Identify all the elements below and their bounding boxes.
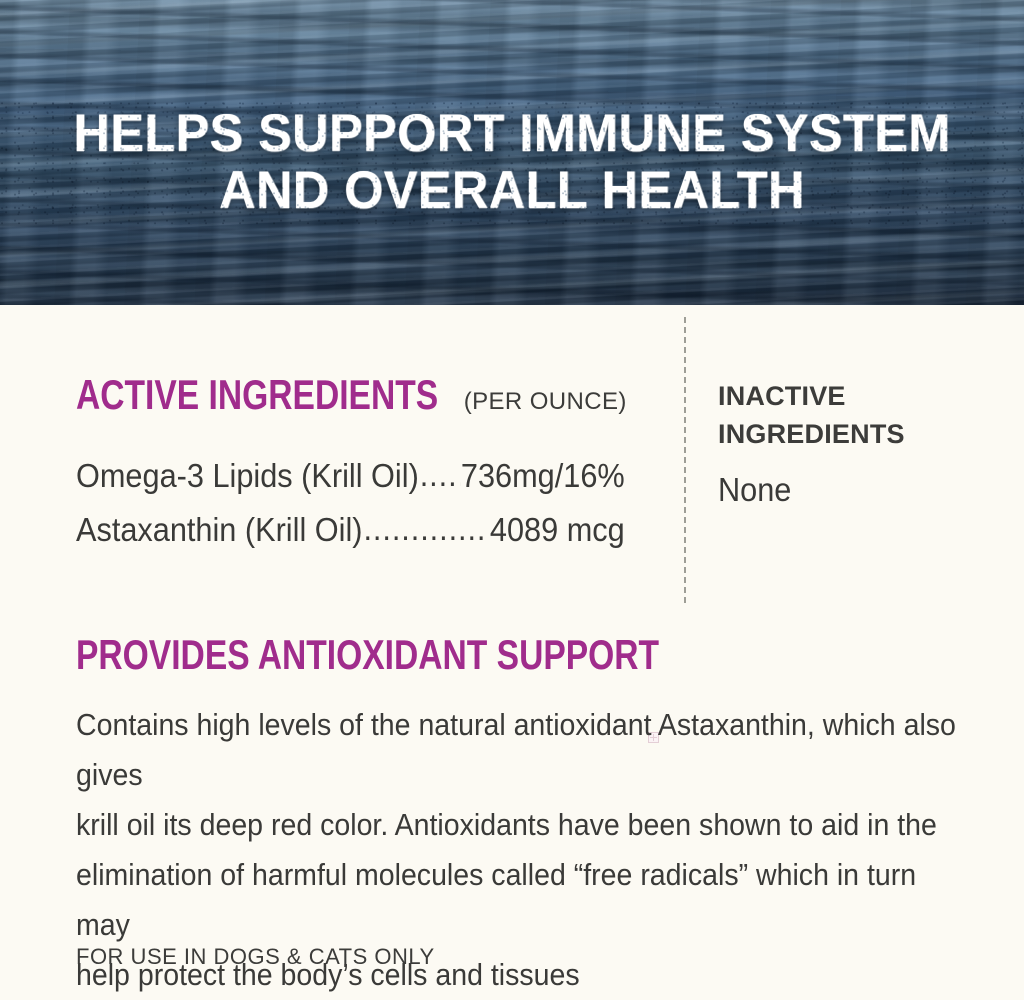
ingredient-value: 4089 mcg (490, 503, 625, 557)
hero-headline: HELPS SUPPORT IMMUNE SYSTEM AND OVERALL … (26, 105, 999, 219)
ingredient-name: Astaxanthin (Krill Oil) (76, 503, 363, 557)
inactive-ingredients-section: INACTIVE INGREDIENTS None (718, 377, 998, 509)
dot-leader: ........................... (420, 448, 460, 502)
ingredient-name: Omega-3 Lipids (Krill Oil) (76, 449, 419, 503)
active-ingredients-heading: ACTIVE INGREDIENTS (76, 373, 438, 417)
table-row: Astaxanthin (Krill Oil) ................… (76, 503, 625, 557)
active-ingredients-list: Omega-3 Lipids (Krill Oil) .............… (76, 449, 666, 557)
antioxidant-heading: PROVIDES ANTIOXIDANT SUPPORT (76, 632, 796, 678)
table-row: Omega-3 Lipids (Krill Oil) .............… (76, 449, 625, 503)
content-area: ACTIVE INGREDIENTS (PER OUNCE) Omega-3 L… (0, 305, 1024, 972)
vertical-dashed-divider (684, 317, 686, 603)
inactive-ingredients-value: None (718, 471, 978, 509)
inactive-ingredients-heading: INACTIVE INGREDIENTS (718, 377, 998, 453)
hero-banner: HELPS SUPPORT IMMUNE SYSTEM AND OVERALL … (0, 0, 1024, 305)
ingredient-value: 736mg/16% (461, 449, 625, 503)
active-ingredients-section: ACTIVE INGREDIENTS (PER OUNCE) Omega-3 L… (76, 373, 666, 557)
per-ounce-qualifier: (PER OUNCE) (464, 388, 627, 416)
usage-restriction-note: FOR USE IN DOGS & CATS ONLY (76, 944, 435, 970)
active-ingredients-header: ACTIVE INGREDIENTS (PER OUNCE) (76, 373, 666, 417)
supplement-label-page: HELPS SUPPORT IMMUNE SYSTEM AND OVERALL … (0, 0, 1024, 972)
dot-leader: .................................... (363, 502, 489, 556)
